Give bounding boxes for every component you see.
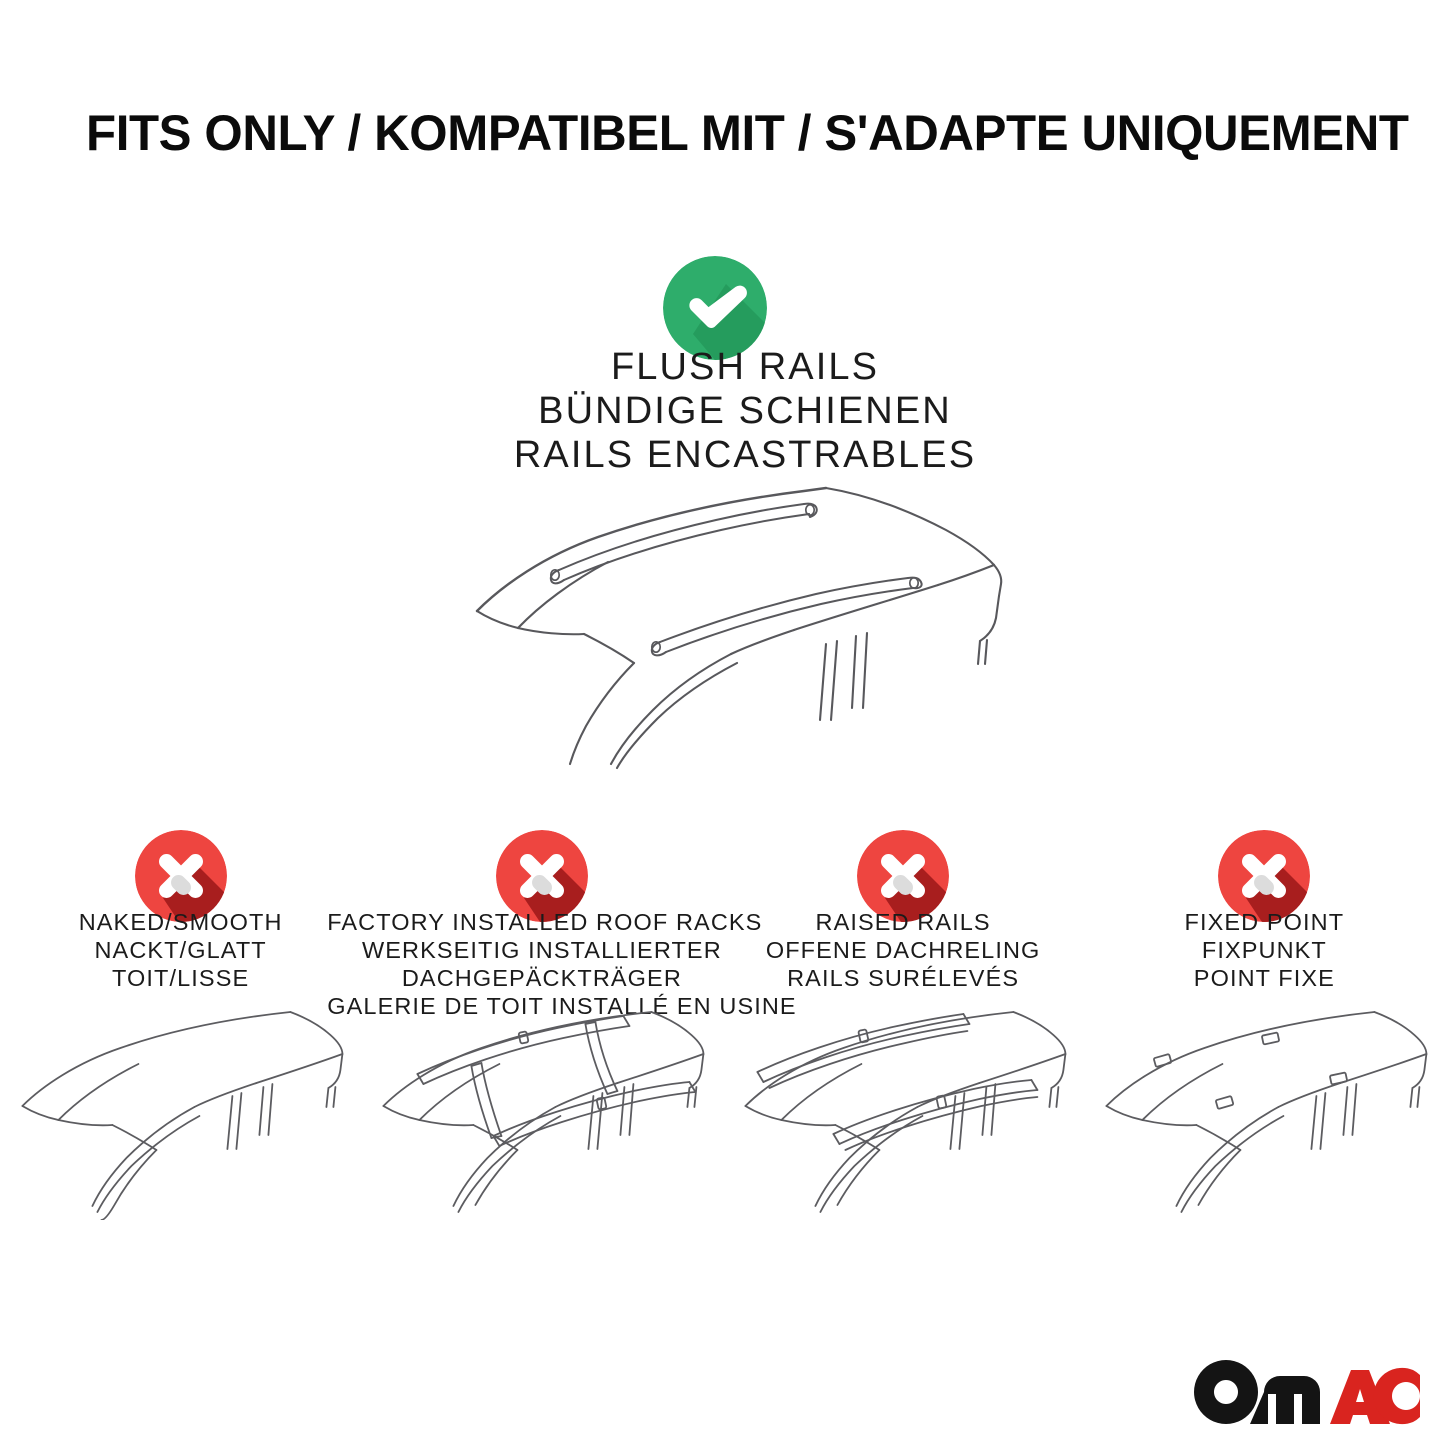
page-title: FITS ONLY / KOMPATIBEL MIT / S'ADAPTE UN… (86, 104, 1357, 164)
compatible-label-en: FLUSH RAILS (395, 345, 1095, 389)
incompatible-item-naked-smooth: NAKED/SMOOTH NACKT/GLATT TOIT/LISSE (0, 820, 361, 1240)
label-en: FIXED POINT (1070, 908, 1445, 936)
label-en: RAISED RAILS (689, 908, 1118, 936)
incompatible-item-fixed-point: FIXED POINT FIXPUNKT POINT FIXE (1084, 820, 1445, 1240)
car-roof-with-raised-rails-illustration (730, 1010, 1077, 1220)
label-en: NAKED/SMOOTH (0, 908, 375, 936)
incompatible-labels: NAKED/SMOOTH NACKT/GLATT TOIT/LISSE (0, 908, 375, 992)
incompatible-labels: RAISED RAILS OFFENE DACHRELING RAILS SUR… (689, 908, 1118, 992)
compatible-label-de: BÜNDIGE SCHIENEN (395, 389, 1095, 433)
car-roof-with-flush-rails-illustration (448, 468, 1020, 770)
incompatible-item-factory-installed-roof-racks: FACTORY INSTALLED ROOF RACKS WERKSEITIG … (361, 820, 722, 1240)
incompatible-labels: FIXED POINT FIXPUNKT POINT FIXE (1070, 908, 1445, 992)
label-de: NACKT/GLATT (0, 936, 375, 964)
label-de: OFFENE DACHRELING (689, 936, 1118, 964)
label-fr: RAILS SURÉLEVÉS (689, 964, 1118, 992)
incompatible-section: NAKED/SMOOTH NACKT/GLATT TOIT/LISSE (0, 820, 1445, 1240)
omac-logo (1188, 1356, 1420, 1428)
car-roof-with-fixed-points-illustration (1091, 1010, 1438, 1220)
compatible-labels: FLUSH RAILS BÜNDIGE SCHIENEN RAILS ENCAS… (395, 345, 1095, 477)
label-fr: POINT FIXE (1070, 964, 1445, 992)
incompatible-item-raised-rails: RAISED RAILS OFFENE DACHRELING RAILS SUR… (723, 820, 1084, 1240)
car-roof-bare-illustration (7, 1010, 354, 1220)
compatibility-infographic: FITS ONLY / KOMPATIBEL MIT / S'ADAPTE UN… (0, 0, 1445, 1445)
label-de: FIXPUNKT (1070, 936, 1445, 964)
car-roof-with-factory-crossbars-illustration (368, 1010, 715, 1220)
label-fr: TOIT/LISSE (0, 964, 375, 992)
